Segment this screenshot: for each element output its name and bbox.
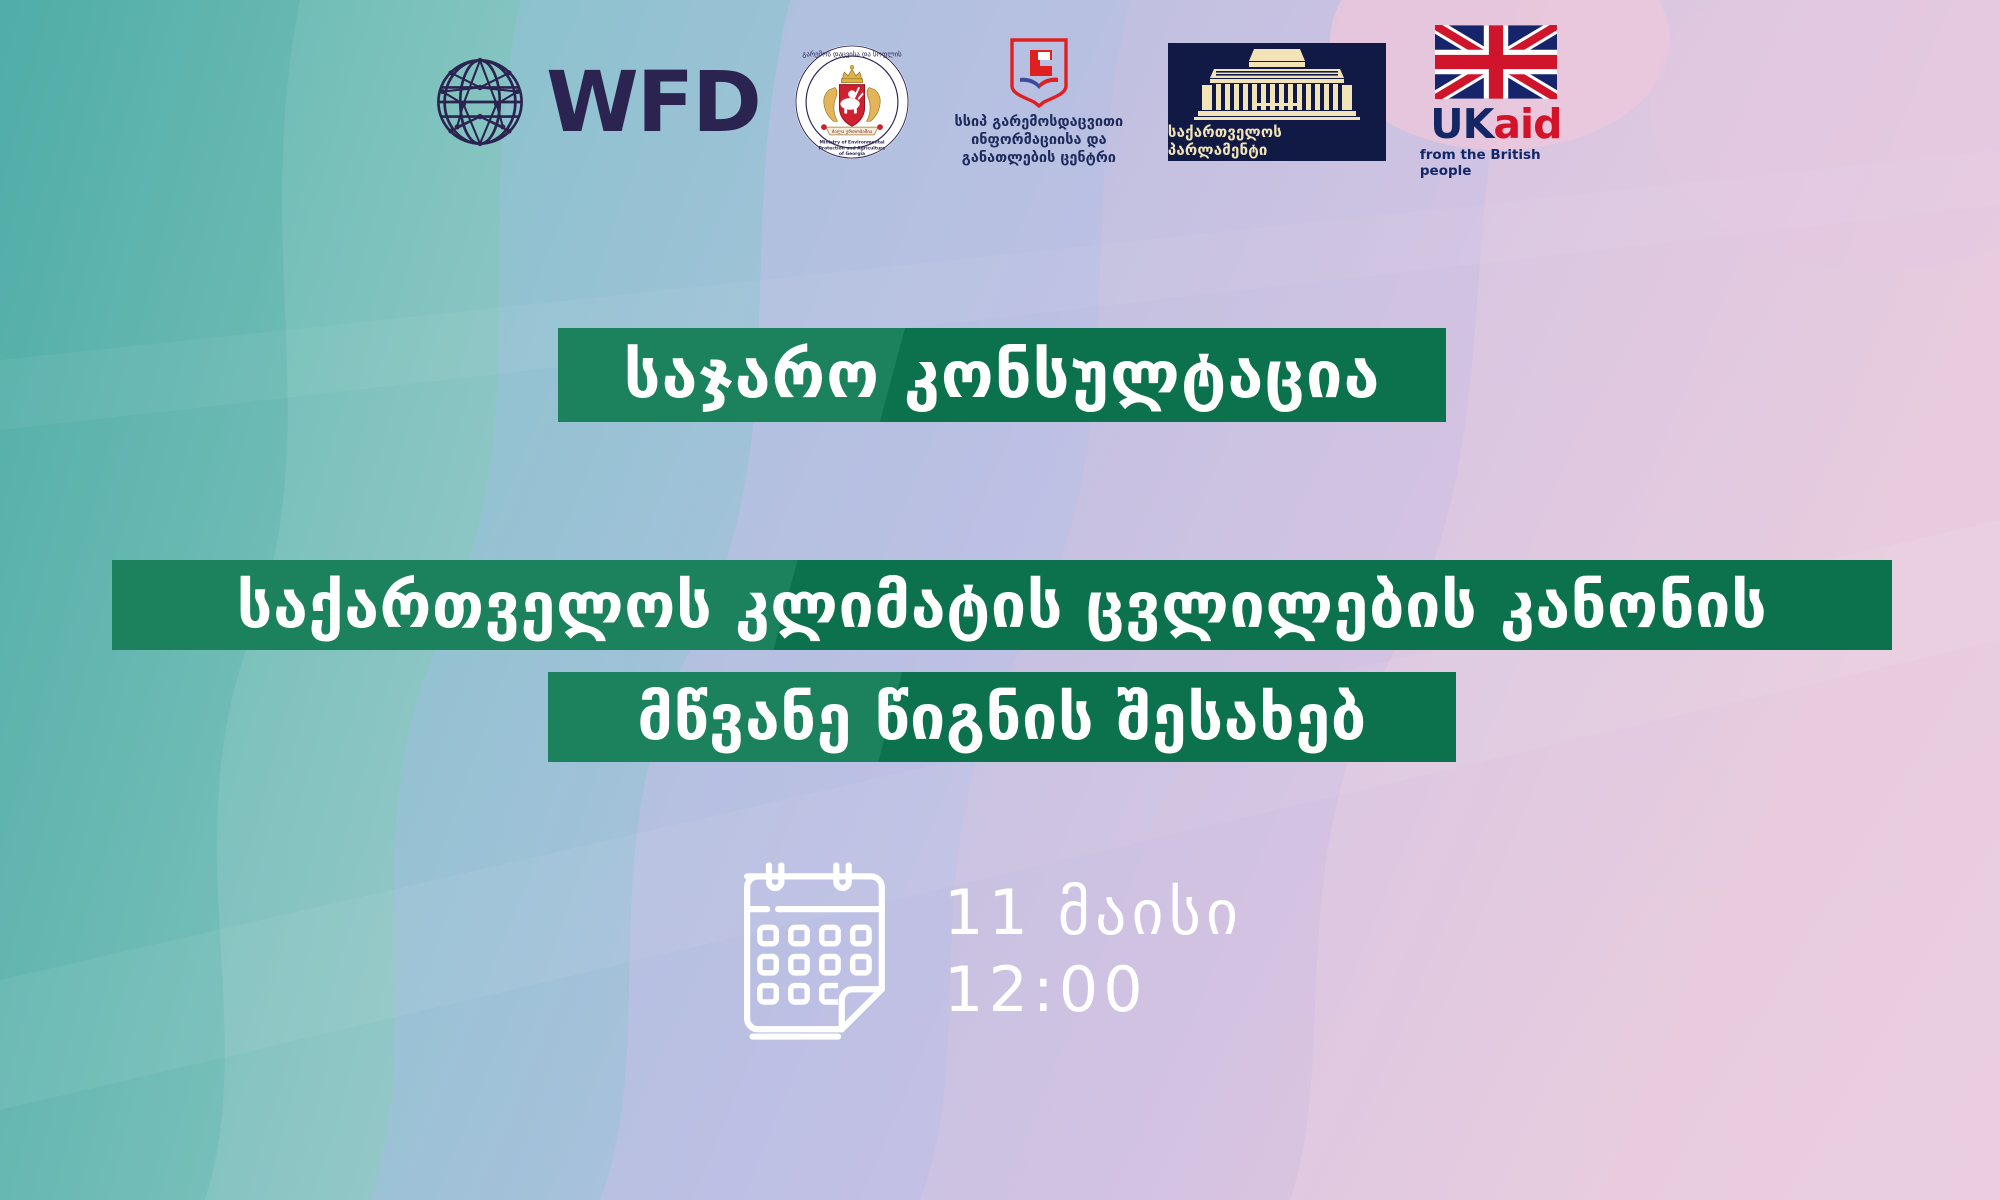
parliament-caption: საქართველოს პარლამენტი xyxy=(1168,123,1386,159)
banner-title: საჯარო კონსულტაცია xyxy=(558,328,1446,422)
poster: WFD გარემოს დაცვისა და სოფლის xyxy=(0,0,2000,1200)
book-shield-icon xyxy=(1008,36,1070,110)
logo-ministry-seal: გარემოს დაცვისა და სოფლის xyxy=(794,44,910,160)
event-datetime-lines: 11 მაისი 12:00 xyxy=(944,874,1243,1029)
globe-mesh-icon xyxy=(428,50,532,154)
parliament-building-icon xyxy=(1192,45,1362,121)
banner-subtitle-line2: მწვანე წიგნის შესახებ xyxy=(548,672,1456,762)
banner-subtitle-line2-text: მწვანე წიგნის შესახებ xyxy=(637,681,1367,754)
ministry-caption-line1: Ministry of Environmental xyxy=(819,140,884,146)
event-time: 12:00 xyxy=(944,951,1243,1029)
logo-eco-info-centre: სსიპ გარემოსდაცვითი ინფორმაციისა და განა… xyxy=(944,36,1134,167)
event-datetime-block: 11 მაისი 12:00 xyxy=(718,858,1243,1044)
svg-text:ძალა ერთობაშია: ძალა ერთობაშია xyxy=(832,128,873,135)
ukaid-uk-text: UK xyxy=(1430,100,1493,148)
union-jack-flag-icon xyxy=(1435,25,1557,99)
ukaid-aid-text: aid xyxy=(1493,100,1561,148)
georgia-coat-of-arms-seal-icon: გარემოს დაცვისა და სოფლის xyxy=(794,44,910,160)
logo-wfd: WFD xyxy=(428,50,760,154)
calendar-icon xyxy=(718,858,900,1044)
logo-parliament: საქართველოს პარლამენტი xyxy=(1168,43,1386,161)
banner-subtitle-line1: საქართველოს კლიმატის ცვლილების კანონის xyxy=(112,560,1892,650)
logo-bar: WFD გარემოს დაცვისა და სოფლის xyxy=(0,22,2000,182)
eco-info-centre-caption: სსიპ გარემოსდაცვითი ინფორმაციისა და განა… xyxy=(955,114,1124,167)
banner-title-text: საჯარო კონსულტაცია xyxy=(624,338,1381,413)
ministry-caption-line3: of Georgia xyxy=(839,151,865,157)
wfd-wordmark: WFD xyxy=(546,60,760,144)
banner-subtitle-line1-text: საქართველოს კლიმატის ცვლილების კანონის xyxy=(237,569,1768,642)
ministry-caption-line2: Protection and Agriculture xyxy=(819,145,886,151)
ukaid-wordmark: UKaid xyxy=(1430,104,1561,145)
event-date: 11 მაისი xyxy=(944,874,1243,952)
svg-text:გარემოს დაცვისა და სოფლის: გარემოს დაცვისა და სოფლის xyxy=(802,50,902,59)
ukaid-tagline: from the British people xyxy=(1420,147,1572,179)
logo-ukaid: UKaid from the British people xyxy=(1420,25,1572,179)
